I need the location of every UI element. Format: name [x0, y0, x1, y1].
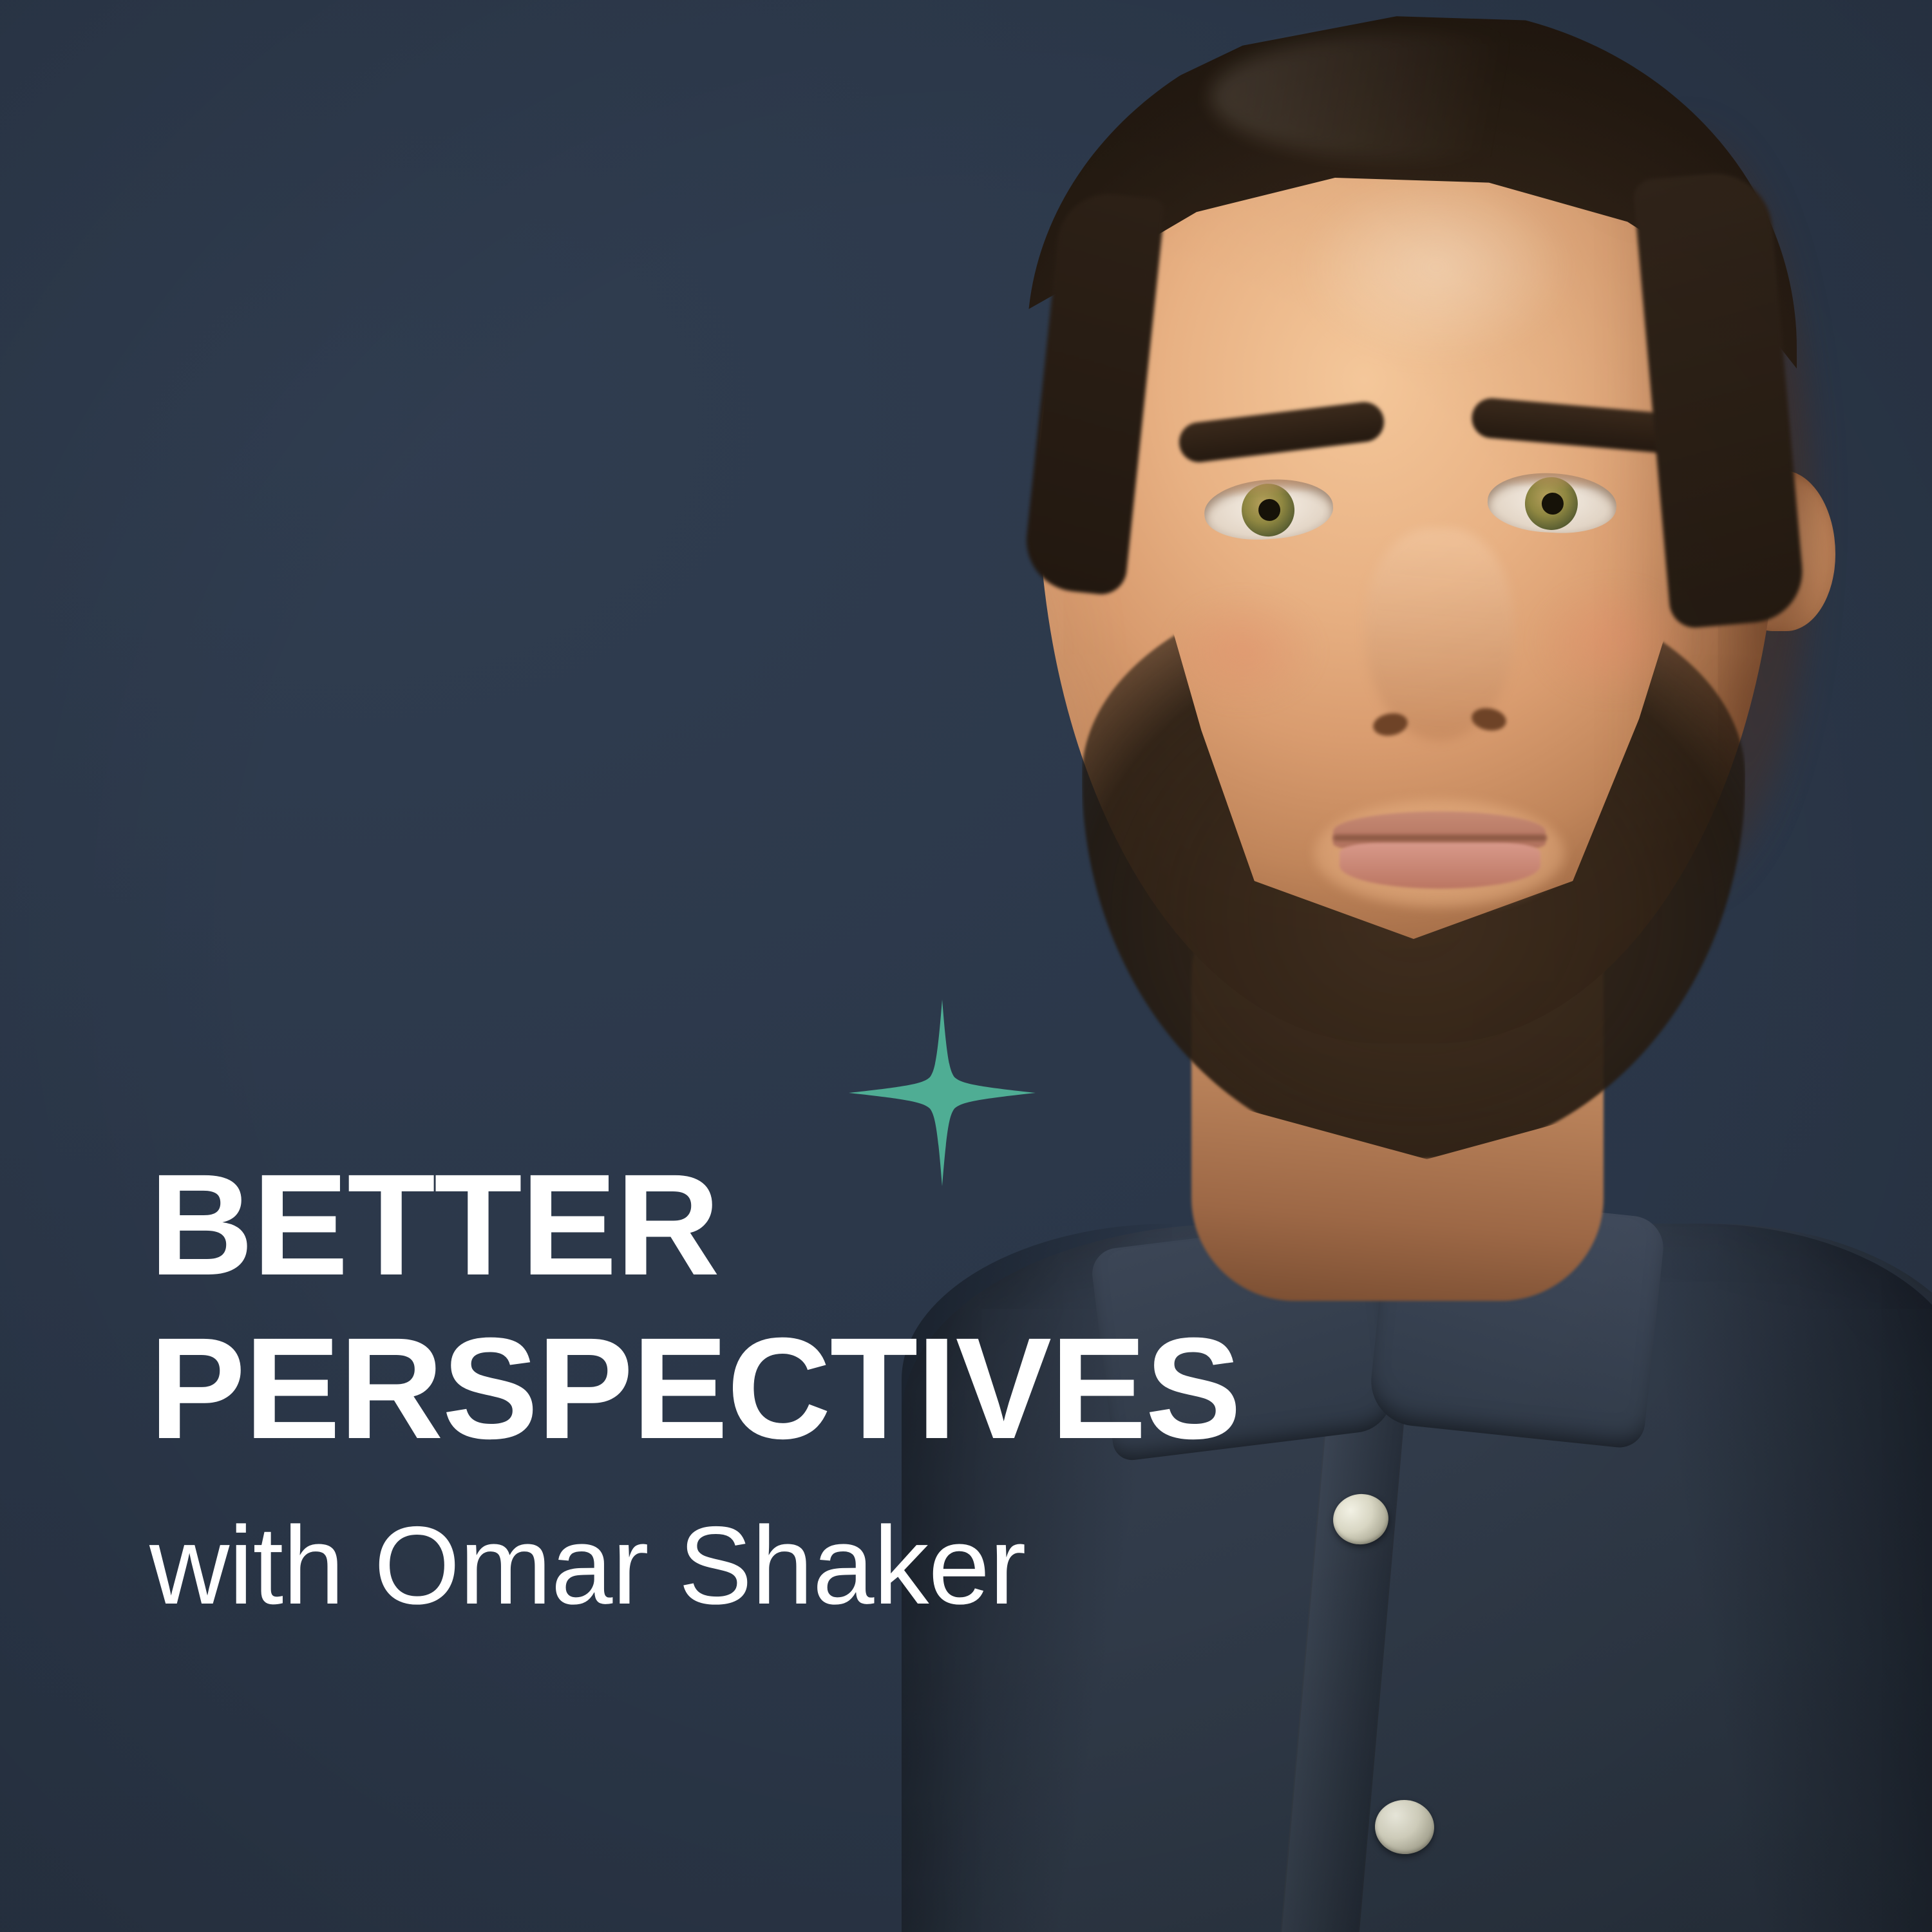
portrait-photo	[889, 0, 1932, 1932]
title-block: BETTER PERSPECTIVES with Omar Shaker	[149, 1145, 1631, 1625]
title-line-2: PERSPECTIVES	[149, 1309, 1631, 1468]
pupil-right	[1541, 492, 1564, 515]
mouth-line	[1333, 835, 1547, 841]
hair-highlight	[1211, 32, 1623, 161]
pupil-left	[1258, 498, 1281, 522]
lower-lip	[1340, 842, 1540, 889]
subtitle-host: with Omar Shaker	[149, 1506, 1631, 1625]
forehead-highlight	[1301, 174, 1571, 361]
title-line-1: BETTER	[149, 1145, 1631, 1305]
shirt-shadow-right	[1636, 1224, 1932, 1932]
podcast-cover-art: BETTER PERSPECTIVES with Omar Shaker	[0, 0, 1932, 1932]
